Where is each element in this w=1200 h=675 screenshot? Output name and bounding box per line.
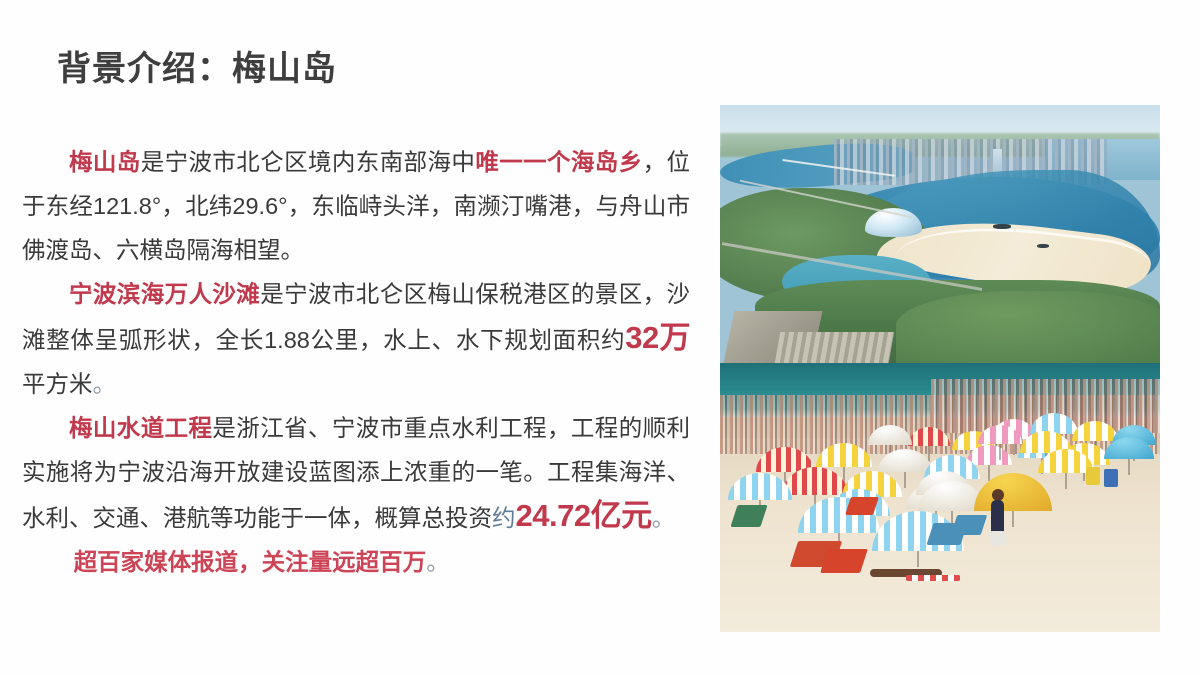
paragraph-1: 梅山岛是宁波市北仑区境内东南部海中唯一一个海岛乡，位于东经121.8°，北纬29… <box>22 140 690 272</box>
vendor-torso <box>991 500 1004 534</box>
beach-chair <box>820 549 868 573</box>
slide-root: 背景介绍：梅山岛 梅山岛是宁波市北仑区境内东南部海中唯一一个海岛乡，位于东经12… <box>0 0 1200 675</box>
boat <box>1037 244 1049 248</box>
trash-bin <box>1086 467 1100 485</box>
page-title: 背景介绍：梅山岛 <box>57 48 337 91</box>
run-p2-a: 宁波滨海万人沙滩 <box>69 281 260 307</box>
run-p1-b: 是宁波市北仑区境内东南部海中 <box>141 149 476 175</box>
photo-column <box>720 105 1160 632</box>
green-parkland-bottom-right <box>896 291 1160 363</box>
beach-towel <box>906 575 960 581</box>
beach-chair <box>845 497 879 515</box>
run-p1-a: 梅山岛 <box>69 149 141 175</box>
aerial-coastal-development-rendering <box>720 105 1160 363</box>
boat <box>993 224 1011 229</box>
run-p3-a: 梅山水道工程 <box>69 415 212 441</box>
run-p2-c: 32万 <box>625 320 690 355</box>
paragraph-3: 梅山水道工程是浙江省、宁波市重点水利工程，工程的顺利实施将为宁波沿海开放建设蓝图… <box>22 406 690 540</box>
run-p4-a: 超百家媒体报道，关注量远超百万 <box>74 549 427 575</box>
body-text-block: 梅山岛是宁波市北仑区境内东南部海中唯一一个海岛乡，位于东经121.8°，北纬29… <box>22 140 690 584</box>
trash-bin <box>1104 469 1118 487</box>
run-p2-e: 。 <box>93 371 117 397</box>
run-p4-b: 。 <box>426 549 450 575</box>
run-p2-d: 平方米 <box>22 371 93 397</box>
run-p3-d: 24.72亿元 <box>516 498 652 533</box>
run-p3-c: 约 <box>492 505 516 531</box>
paragraph-4: 超百家媒体报道，关注量远超百万。 <box>22 540 690 584</box>
foreground-building-rows <box>774 332 895 363</box>
run-p1-c: 唯一一个海岛乡 <box>475 149 642 175</box>
crowded-beach-photo <box>720 363 1160 632</box>
run-p3-e: 。 <box>652 505 676 531</box>
paragraph-2: 宁波滨海万人沙滩是宁波市北仑区梅山保税港区的景区，沙滩整体呈弧形状，全长1.88… <box>22 272 690 406</box>
vendor-shorts <box>990 531 1005 546</box>
